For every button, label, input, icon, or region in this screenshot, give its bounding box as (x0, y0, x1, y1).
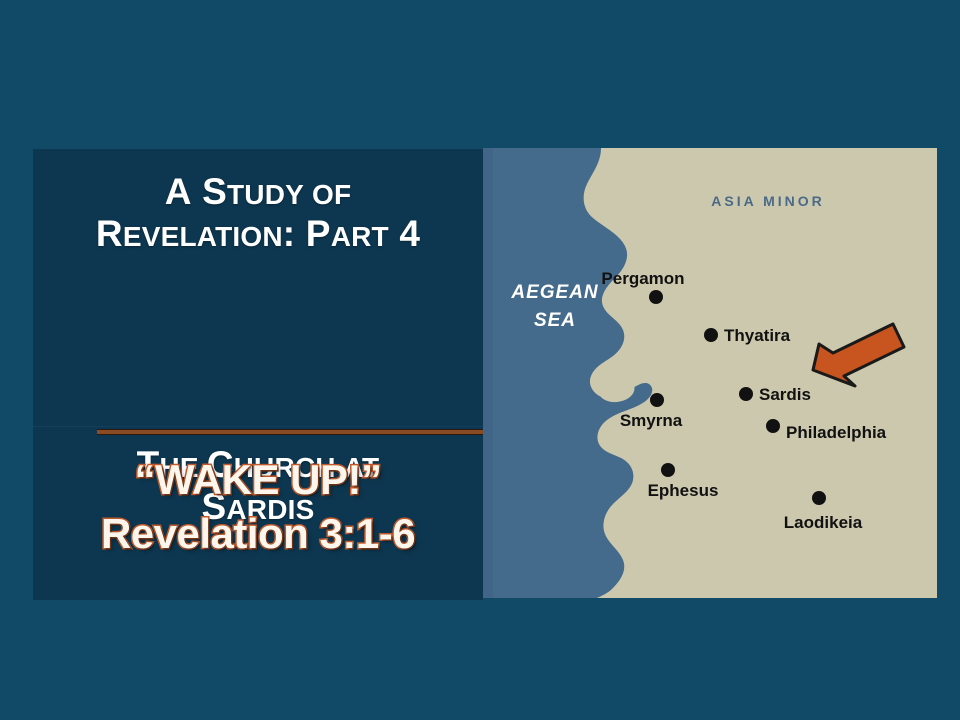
title-line-2: REVELATION: PART 4 (53, 213, 463, 255)
city-dot-thyatira[interactable] (704, 328, 718, 342)
title-line-1-initial: A (165, 171, 192, 212)
city-dot-philadelphia[interactable] (766, 419, 780, 433)
highlight-line-2: Revelation 3:1-6 (33, 507, 483, 561)
title-line-1-of: OF (312, 179, 351, 210)
title-line-2-colon: : (283, 213, 296, 254)
city-label-philadelphia: Philadelphia (786, 423, 887, 442)
map-sea-label-line1: AEGEAN (510, 282, 599, 303)
map-region-label: ASIA MINOR (711, 193, 824, 209)
city-label-smyrna: Smyrna (620, 411, 683, 430)
map-sea-label-line2: SEA (534, 310, 576, 331)
title-line-1: A STUDY OF (53, 171, 463, 213)
city-dot-pergamon[interactable] (649, 290, 663, 304)
title-line-1-s: S (202, 171, 227, 212)
highlight-inner: “WAKE UP!” Revelation 3:1-6 (33, 427, 483, 561)
city-dot-smyrna[interactable] (650, 393, 664, 407)
title-line-2-initial: R (96, 213, 123, 254)
city-label-thyatira: Thyatira (724, 326, 791, 345)
city-dot-sardis[interactable] (739, 387, 753, 401)
city-label-sardis: Sardis (759, 385, 811, 404)
city-dot-ephesus[interactable] (661, 463, 675, 477)
title-line-2-art: ART (331, 221, 389, 252)
title-line-1-study: TUDY (227, 179, 304, 210)
sea-edge-shading (483, 148, 493, 598)
slide-canvas: A STUDY OF REVELATION: PART 4 THE CHURCH… (0, 0, 960, 720)
title-line-2-number: 4 (399, 213, 420, 254)
city-label-ephesus: Ephesus (648, 481, 719, 500)
title-line-2-revelation: EVELATION (123, 221, 283, 252)
title-block: A STUDY OF REVELATION: PART 4 THE CHURCH… (33, 149, 483, 425)
highlight-block: “WAKE UP!” Revelation 3:1-6 (33, 426, 483, 600)
city-label-pergamon: Pergamon (601, 269, 684, 288)
city-label-laodikeia: Laodikeia (784, 513, 863, 532)
map-figure: ASIA MINOR AEGEAN SEA Pergamon Thyatira … (483, 148, 937, 598)
highlight-line-1: “WAKE UP!” (33, 453, 483, 507)
city-dot-laodikeia[interactable] (812, 491, 826, 505)
asia-minor-map: ASIA MINOR AEGEAN SEA Pergamon Thyatira … (483, 148, 937, 598)
title-panel: A STUDY OF REVELATION: PART 4 THE CHURCH… (33, 149, 483, 600)
title-line-2-p: P (306, 213, 331, 254)
